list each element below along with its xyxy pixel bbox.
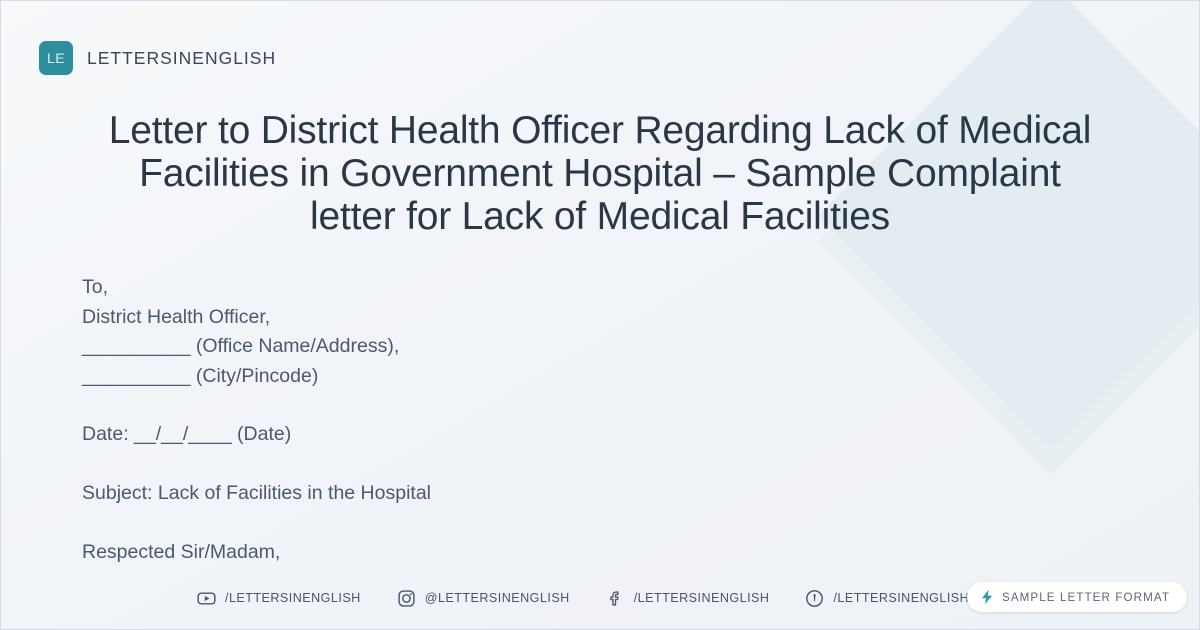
social-link-youtube[interactable]: /LETTERSINENGLISH — [197, 589, 361, 608]
spacer — [82, 509, 842, 538]
sample-letter-format-label: SAMPLE LETTER FORMAT — [1002, 591, 1170, 604]
page-title: Letter to District Health Officer Regard… — [61, 109, 1139, 238]
sample-letter-format-badge[interactable]: SAMPLE LETTER FORMAT — [967, 582, 1187, 612]
social-label: /LETTERSINENGLISH — [634, 591, 770, 605]
letter-city-line: __________ (City/Pincode) — [82, 362, 842, 392]
youtube-icon — [197, 589, 216, 608]
spacer — [82, 450, 842, 479]
letter-recipient-line: District Health Officer, — [82, 303, 842, 333]
instagram-icon — [397, 589, 416, 608]
pinterest-icon — [805, 589, 824, 608]
social-links: /LETTERSINENGLISH @LETTERSINENGLISH — [197, 589, 969, 608]
social-link-pinterest[interactable]: /LETTERSINENGLISH — [805, 589, 969, 608]
lightning-bolt-icon — [980, 589, 994, 605]
decorative-diamond-shape-secondary — [818, 8, 1200, 475]
social-label: @LETTERSINENGLISH — [425, 591, 570, 605]
social-link-facebook[interactable]: /LETTERSINENGLISH — [606, 589, 770, 608]
letter-salutation: Respected Sir/Madam, — [82, 538, 842, 568]
letter-address-block: To, District Health Officer, __________ … — [82, 273, 842, 391]
brand-header: LE LETTERSINENGLISH — [39, 41, 276, 75]
letter-office-line: __________ (Office Name/Address), — [82, 332, 842, 362]
brand-logo-badge: LE — [39, 41, 73, 75]
spacer — [82, 391, 842, 420]
page-title-line-1: Letter to District Health Officer Regard… — [61, 109, 1139, 152]
page-title-line-3: letter for Lack of Medical Facilities — [61, 195, 1139, 238]
facebook-icon — [606, 589, 625, 608]
social-link-instagram[interactable]: @LETTERSINENGLISH — [397, 589, 570, 608]
letter-subject-line: Subject: Lack of Facilities in the Hospi… — [82, 479, 842, 509]
social-label: /LETTERSINENGLISH — [833, 591, 969, 605]
social-label: /LETTERSINENGLISH — [225, 591, 361, 605]
brand-name: LETTERSINENGLISH — [87, 48, 276, 69]
letter-date-line: Date: __/__/____ (Date) — [82, 420, 842, 450]
letter-to-line: To, — [82, 273, 842, 303]
letter-body: To, District Health Officer, __________ … — [82, 273, 842, 567]
page-title-line-2: Facilities in Government Hospital – Samp… — [61, 152, 1139, 195]
poster-canvas: LE LETTERSINENGLISH Letter to District H… — [0, 0, 1200, 630]
footer-bar: /LETTERSINENGLISH @LETTERSINENGLISH — [1, 567, 1199, 629]
